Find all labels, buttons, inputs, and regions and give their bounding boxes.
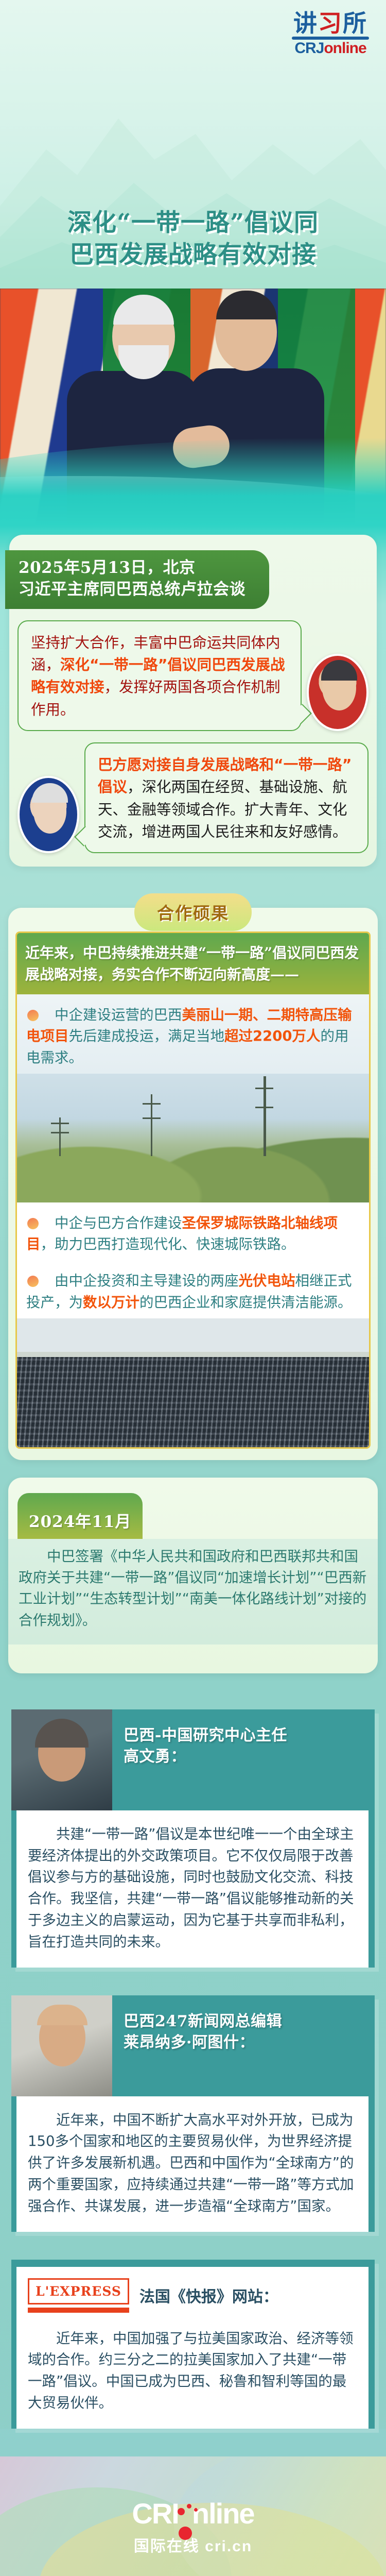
expert-2-quote: 近年来，中国不断扩大高水平对外开放，已成为150多个国家和地区的主要贸易伙伴，为… <box>16 2096 369 2232</box>
result-item-3: 由中企投资和主导建设的两座光伏电站相继正式投产，为数以万计的巴西企业和家庭提供清… <box>17 1260 369 1318</box>
result-item-3-text: 由中企投资和主导建设的两座光伏电站相继正式投产，为数以万计的巴西企业和家庭提供清… <box>26 1270 360 1313</box>
expert-1-quote: 共建“一带一路”倡议是本世纪唯一一个由全球主要经济体提出的外交政策项目。它不仅仅… <box>16 1810 369 1968</box>
bubble-tail-left <box>74 826 95 846</box>
bullet-dot-icon <box>27 1218 39 1229</box>
lula-quote-row: 巴方愿对接自身发展战略和“一带一路”倡议，深化两国在经贸、基础设施、航天、金融等… <box>9 742 377 853</box>
footer-logo-en: CRI nline <box>132 2497 254 2530</box>
brand-logo-cn: 讲习所 <box>287 11 374 35</box>
result-item-1-text: 中企建设运营的巴西美丽山一期、二期特高压输电项目先后建成投运，满足当地超过220… <box>26 1005 360 1069</box>
powerline-photo <box>17 1074 369 1202</box>
y2024-card: 2024年11月 中巴签署《中华人民共和国政府和巴西联邦共和国政府关于共建“一带… <box>8 1478 378 1673</box>
result-3-post: 的巴西企业和家庭提供清洁能源。 <box>139 1294 352 1311</box>
solar-farm-photo <box>17 1318 369 1447</box>
result-3-hl1: 光伏电站 <box>239 1273 295 1289</box>
expert-2-name: 巴西247新闻网总编辑 莱昂纳多·阿图什： <box>112 1995 291 2054</box>
talks-date-banner: 2025年5月13日，北京 习近平主席同巴西总统卢拉会谈 <box>5 550 269 609</box>
source-logo-row: L'EXPRESS 法国《快报》网站： <box>16 2267 369 2315</box>
lula-quote-part2: ，深化两国在经贸、基础设施、航天、金融等领域合作。扩大青年、文化交流，增进两国人… <box>98 778 347 840</box>
result-2-pre: 中企与巴方合作建设 <box>55 1215 182 1231</box>
expert-2-name-line1: 巴西247新闻网总编辑 <box>124 2012 282 2030</box>
result-3-pre: 由中企投资和主导建设的两座 <box>55 1273 239 1289</box>
expert-1-photo <box>11 1709 112 1810</box>
page-title: 深化“一带一路”倡议同 巴西发展战略有效对接 <box>0 207 386 271</box>
talks-card: 2025年5月13日，北京 习近平主席同巴西总统卢拉会谈 坚持扩大合作，丰富中巴… <box>9 535 377 867</box>
talks-section: 2025年5月13日，北京 习近平主席同巴西总统卢拉会谈 坚持扩大合作，丰富中巴… <box>0 526 386 887</box>
talks-date-line2: 习近平主席同巴西总统卢拉会谈 <box>19 580 245 599</box>
bullet-dot-icon <box>27 1010 39 1021</box>
source-card-head <box>11 2260 375 2267</box>
result-item-2: 中企与巴方合作建设圣保罗城际铁路北轴线项目，助力巴西打造现代化、快速城际铁路。 <box>17 1202 369 1261</box>
hero-section: 讲习所 CRJonline 深化“一带一路”倡议同 巴西发展战略有效对接 <box>0 0 386 289</box>
source-card-quote: 近年来，中国加强了与拉美国家政治、经济等领域的合作。约三分之二的拉美国家加入了共… <box>16 2315 369 2429</box>
result-1-hl2: 超过2200万人 <box>224 1028 321 1044</box>
results-lead-text: 近年来，中巴持续推进共建“一带一路”倡议同巴西发展战略对接，务实合作不断迈向新高… <box>17 933 369 994</box>
leaders-handshake-photo <box>0 289 386 526</box>
y2024-tag: 2024年11月 <box>17 1493 143 1539</box>
results-inner: 近年来，中巴持续推进共建“一带一路”倡议同巴西发展战略对接，务实合作不断迈向新高… <box>15 931 371 1449</box>
results-pill-label: 合作硕果 <box>134 893 252 931</box>
lula-quote-bubble: 巴方愿对接自身发展战略和“一带一路”倡议，深化两国在经贸、基础设施、航天、金融等… <box>84 742 369 853</box>
experts-section: 巴西-中国研究中心主任 高文勇： 共建“一带一路”倡议是本世纪唯一一个由全球主要… <box>0 1694 386 2429</box>
source-card-name: 法国《快报》网站： <box>139 2284 278 2307</box>
avatar-lula <box>17 776 79 853</box>
source-card-lexpress: L'EXPRESS 法国《快报》网站： 近年来，中国加强了与拉美国家政治、经济等… <box>11 2260 375 2429</box>
result-1-mid: 先后建成投运，满足当地 <box>69 1028 225 1044</box>
expert-2-name-line2: 莱昂纳多·阿图什： <box>124 2033 255 2052</box>
expert-card-1: 巴西-中国研究中心主任 高文勇： 共建“一带一路”倡议是本世纪唯一一个由全球主要… <box>11 1709 375 1968</box>
bullet-dot-icon <box>27 1276 39 1287</box>
expert-card-2: 巴西247新闻网总编辑 莱昂纳多·阿图什： 近年来，中国不断扩大高水平对外开放，… <box>11 1995 375 2232</box>
expert-2-photo <box>11 1995 112 2096</box>
xi-quote-bubble: 坚持扩大合作，丰富中巴命运共同体内涵，深化“一带一路”倡议同巴西发展战略有效对接… <box>17 620 302 731</box>
result-item-1: 中企建设运营的巴西美丽山一期、二期特高压输电项目先后建成投运，满足当地超过220… <box>17 994 369 1074</box>
result-item-2-text: 中企与巴方合作建设圣保罗城际铁路北轴线项目，助力巴西打造现代化、快速城际铁路。 <box>26 1213 360 1256</box>
xi-quote-row: 坚持扩大合作，丰富中巴命运共同体内涵，深化“一带一路”倡议同巴西发展战略有效对接… <box>9 620 377 731</box>
infographic-page: 讲习所 CRJonline 深化“一带一路”倡议同 巴西发展战略有效对接 <box>0 0 386 2576</box>
lexpress-logo: L'EXPRESS <box>28 2278 129 2313</box>
expert-1-head: 巴西-中国研究中心主任 高文勇： <box>11 1709 375 1810</box>
expert-1-name-line2: 高文勇： <box>124 1748 186 1766</box>
footer-logo-en-text: CRIonline <box>0 2456 1 2457</box>
expert-2-head: 巴西247新闻网总编辑 莱昂纳多·阿图什： <box>11 1995 375 2096</box>
brand-logo-cri: CRJonline <box>287 41 374 56</box>
page-title-line2: 巴西发展战略有效对接 <box>69 241 317 269</box>
cri-brand-logo[interactable]: 讲习所 CRJonline <box>287 11 374 56</box>
lexpress-logo-bar <box>28 2308 129 2313</box>
expert-1-name: 巴西-中国研究中心主任 高文勇： <box>112 1709 296 1768</box>
lexpress-logo-text: L'EXPRESS <box>28 2278 129 2304</box>
y2024-text: 中巴签署《中华人民共和国政府和巴西联邦共和国政府关于共建“一带一路”倡议同“加速… <box>8 1539 378 1645</box>
result-2-mid: ，助力巴西打造现代化、快速城际铁路。 <box>41 1236 295 1252</box>
page-title-line1: 深化“一带一路”倡议同 <box>67 209 319 237</box>
results-card: 合作硕果 近年来，中巴持续推进共建“一带一路”倡议同巴西发展战略对接，务实合作不… <box>8 908 378 1460</box>
expert-1-name-line1: 巴西-中国研究中心主任 <box>124 1726 287 1744</box>
footer-logo[interactable]: CRI nline 国际在线 cri.cn <box>0 2497 386 2556</box>
avatar-xi-jinping <box>307 654 369 731</box>
footer-logo-cn: 国际在线 cri.cn <box>0 2533 386 2556</box>
footer-section: CRI nline 国际在线 cri.cn CRIonline <box>0 2456 386 2576</box>
results-section: 合作硕果 近年来，中巴持续推进共建“一带一路”倡议同巴西发展战略对接，务实合作不… <box>0 887 386 1694</box>
result-1-pre: 中企建设运营的巴西 <box>55 1007 182 1023</box>
talks-date-line1: 2025年5月13日，北京 <box>19 558 196 577</box>
result-3-hl2: 数以万计 <box>83 1294 139 1311</box>
